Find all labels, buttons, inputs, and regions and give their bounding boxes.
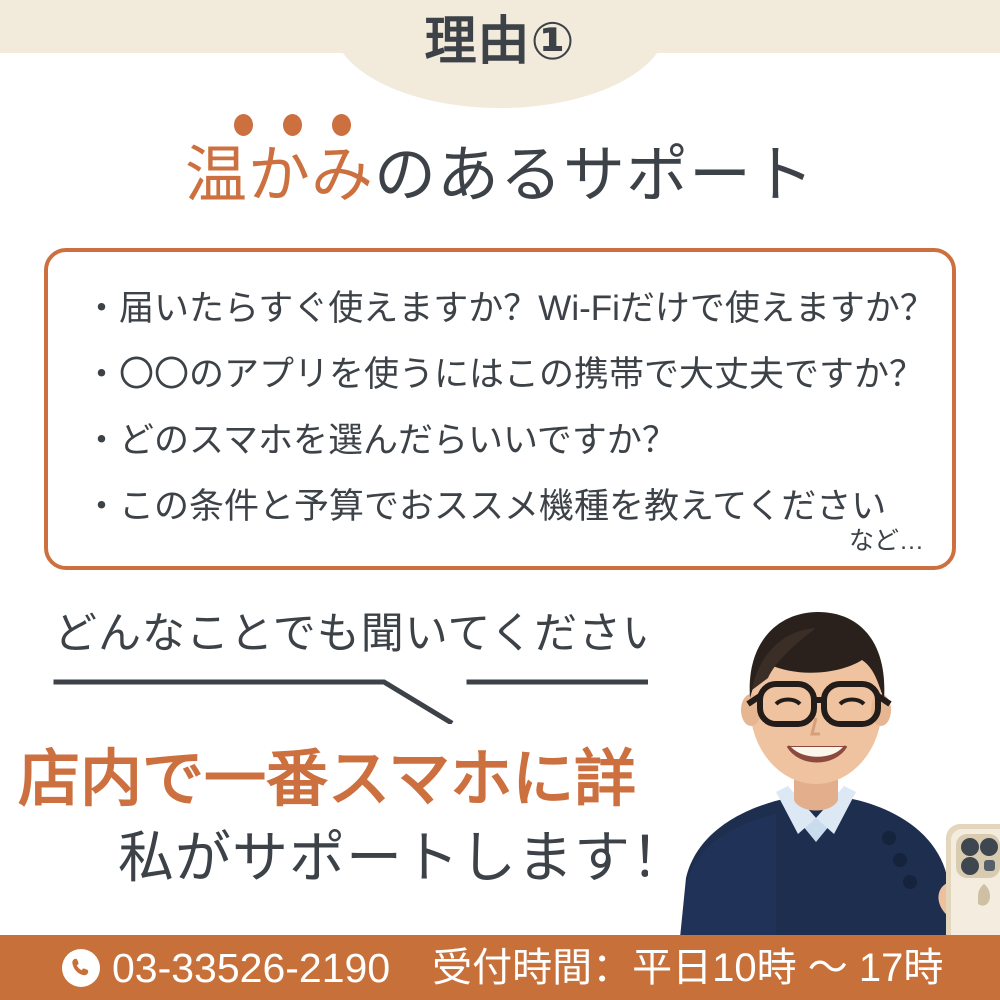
contact-footer: 03-33526-2190 受付時間：平日10時 ～ 17時 <box>0 935 1000 1000</box>
phone-icon <box>62 949 100 987</box>
headline: 温かみのあるサポート <box>0 138 1000 214</box>
headline-accent: 温かみ <box>185 141 374 210</box>
question-list: ・届いたらすぐ使えますか？Wi-Fiだけで使えますか？ ・〇〇のアプリを使うには… <box>84 276 940 540</box>
emphasis-dot <box>234 114 253 136</box>
emphasis-dot <box>332 114 351 136</box>
ask-line: どんなことでも聞いてください！ <box>54 606 710 662</box>
question-box: ・届いたらすぐ使えますか？Wi-Fiだけで使えますか？ ・〇〇のアプリを使うには… <box>44 248 956 570</box>
trailing-note: など… <box>849 526 924 556</box>
headline-rest: のあるサポート <box>374 141 815 210</box>
list-item: ・どのスマホを選んだらいいですか？ <box>84 408 940 474</box>
phone-number[interactable]: 03-33526-2190 <box>112 944 390 992</box>
list-item: ・〇〇のアプリを使うにはこの携帯で大丈夫ですか？ <box>84 342 940 408</box>
support-line: 私がサポートします！ <box>118 822 688 894</box>
footer-content: 03-33526-2190 受付時間：平日10時 ～ 17時 <box>0 935 1000 1000</box>
page-title: 理由① <box>0 12 1000 72</box>
speech-bubble-tail <box>46 668 666 724</box>
poster-root: 理由① 温かみのあるサポート ・届いたらすぐ使えますか？Wi-Fiだけで使えます… <box>0 0 1000 1000</box>
business-hours: 受付時間：平日10時 ～ 17時 <box>432 944 943 992</box>
emphasis-dot <box>283 114 302 136</box>
list-item: ・届いたらすぐ使えますか？Wi-Fiだけで使えますか？ <box>84 276 940 342</box>
staff-photo <box>648 586 1000 938</box>
emphasis-dots <box>228 114 368 138</box>
list-item: ・この条件と予算でおススメ機種を教えてください <box>84 474 940 540</box>
